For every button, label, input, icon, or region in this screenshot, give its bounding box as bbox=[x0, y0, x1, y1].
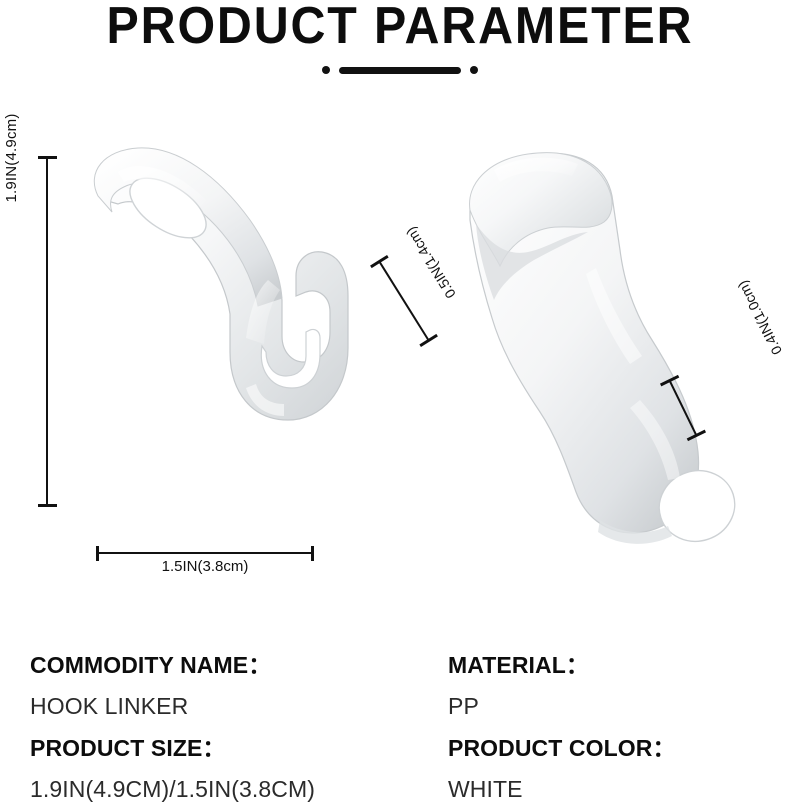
title-divider bbox=[0, 62, 800, 78]
dimension-width-shaft bbox=[97, 552, 313, 554]
dimension-height-label: 1.9IN(4.9cm) bbox=[4, 68, 20, 248]
divider-left-dot-icon bbox=[322, 66, 330, 74]
dimension-width-line: 1.5IN(3.8cm) bbox=[96, 546, 314, 580]
title-block: PRODUCT PARAMETER bbox=[0, 0, 800, 96]
dimension-height-shaft bbox=[46, 157, 48, 505]
product-right-hook bbox=[470, 153, 744, 551]
divider-bar-icon bbox=[339, 67, 461, 74]
product-size-label: PRODUCT SIZE： bbox=[30, 736, 226, 760]
divider-right-dot-icon bbox=[470, 66, 478, 74]
product-image-stage bbox=[0, 100, 800, 600]
dimension-height-cap-bottom bbox=[38, 504, 57, 507]
commodity-name-label: COMMODITY NAME： bbox=[30, 653, 271, 677]
commodity-name-value: HOOK LINKER bbox=[30, 694, 188, 718]
product-color-value: WHITE bbox=[448, 777, 523, 801]
material-value: PP bbox=[448, 694, 479, 718]
product-size-value: 1.9IN(4.9CM)/1.5IN(3.8CM) bbox=[30, 777, 315, 801]
dimension-height-line bbox=[38, 155, 56, 507]
product-color-label: PRODUCT COLOR： bbox=[448, 736, 676, 760]
product-left-hook bbox=[94, 148, 348, 420]
material-label: MATERIAL： bbox=[448, 653, 589, 677]
product-illustrations bbox=[0, 100, 800, 600]
dimension-width-label: 1.5IN(3.8cm) bbox=[96, 558, 314, 576]
specification-block: COMMODITY NAME： HOOK LINKER PRODUCT SIZE… bbox=[0, 640, 800, 800]
page-title: PRODUCT PARAMETER bbox=[28, 0, 772, 54]
